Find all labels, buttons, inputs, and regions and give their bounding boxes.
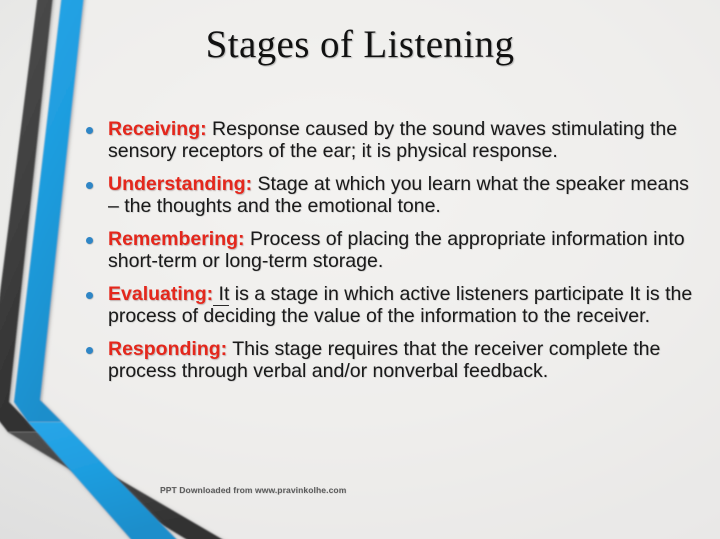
bullet-dot-icon bbox=[86, 127, 93, 134]
page-title: Stages of Listening bbox=[0, 22, 720, 67]
list-item-term: Evaluating: bbox=[108, 283, 213, 305]
list-item-term: Remembering: bbox=[108, 228, 245, 250]
list-item-term: Receiving: bbox=[108, 118, 207, 140]
list-item-term: Understanding: bbox=[108, 173, 252, 195]
list-item: Evaluating: It is a stage in which activ… bbox=[80, 283, 694, 327]
bullet-dot-icon bbox=[86, 182, 93, 189]
bullet-dot-icon bbox=[86, 292, 93, 299]
bullet-list: Receiving: Response caused by the sound … bbox=[80, 118, 694, 393]
bullet-dot-icon bbox=[86, 237, 93, 244]
list-item: Remembering: Process of placing the appr… bbox=[80, 228, 694, 272]
list-item-term: Responding: bbox=[108, 338, 227, 360]
slide-canvas: Stages of Listening Receiving: Response … bbox=[0, 0, 720, 539]
footer-attribution: PPT Downloaded from www.pravinkolhe.com bbox=[160, 485, 346, 495]
list-item: Responding: This stage requires that the… bbox=[80, 338, 694, 382]
list-item: Understanding: Stage at which you learn … bbox=[80, 173, 694, 217]
bullet-dot-icon bbox=[86, 347, 93, 354]
list-item: Receiving: Response caused by the sound … bbox=[80, 118, 694, 162]
list-item-text-underlined: It bbox=[213, 283, 229, 306]
